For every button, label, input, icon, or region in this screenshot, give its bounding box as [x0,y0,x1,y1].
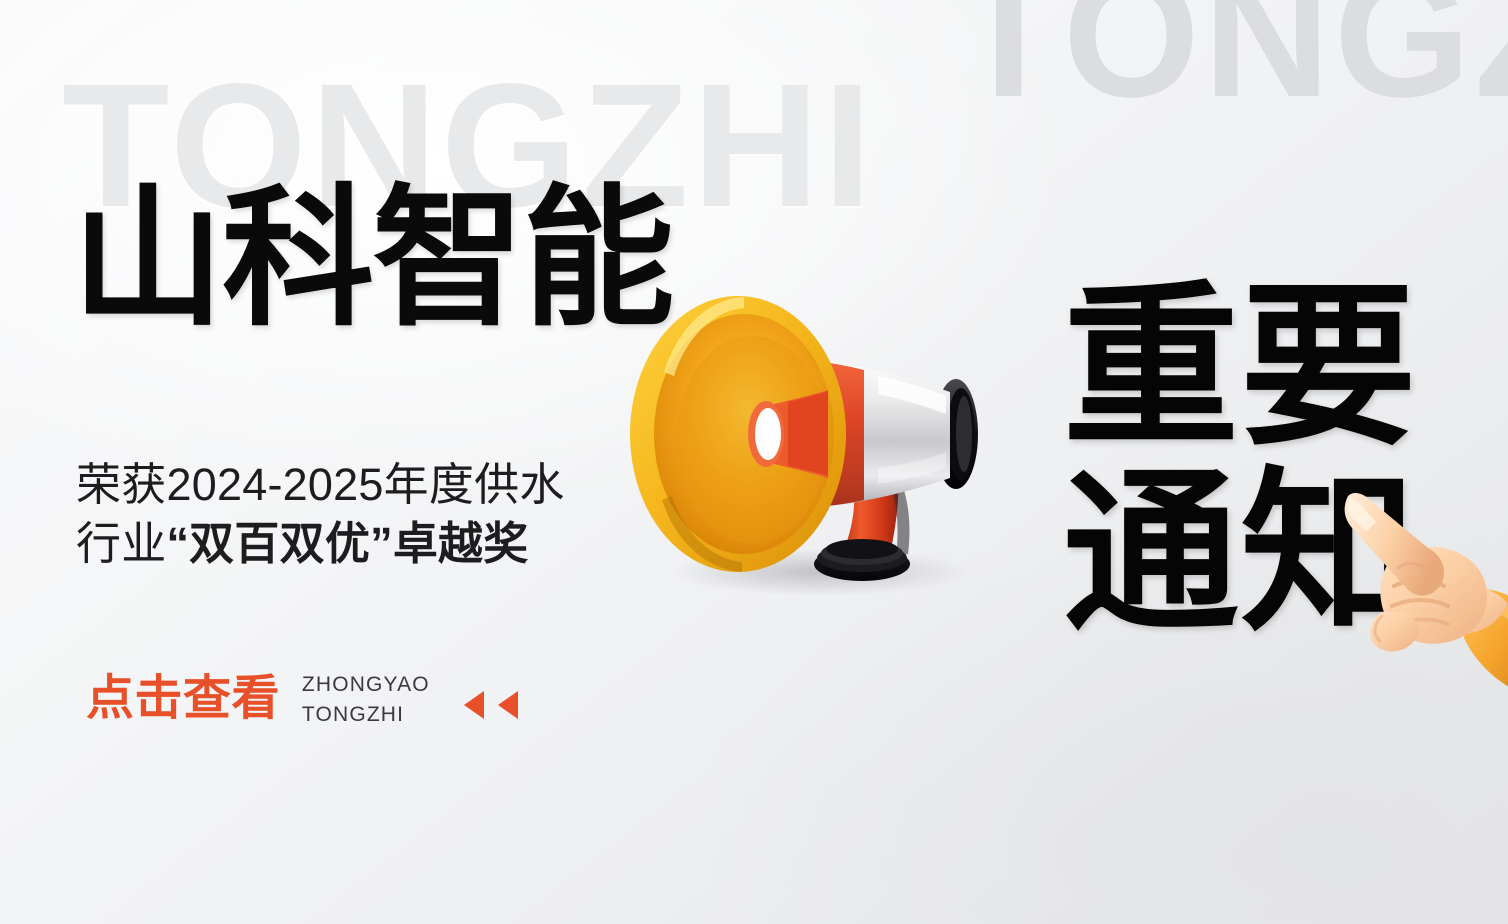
cta-pinyin: ZHONGYAO TONGZHI [302,668,430,730]
award-line-2: 行业“双百双优”卓越奖 [76,515,616,574]
arrow-left-icon [498,691,518,719]
award-line-2-prefix: 行业 [76,518,166,569]
cta-pinyin-line-2: TONGZHI [302,700,430,730]
promo-banner: TONGZHI TONGZHI 山科智能 荣获2024-2025年度供水 行业“… [0,0,1508,924]
megaphone-icon [620,272,1020,602]
award-line-2-suffix: 卓越奖 [393,518,529,569]
cta-row[interactable]: 点击查看 ZHONGYAO TONGZHI [86,668,518,730]
arrow-left-icon [464,691,484,719]
award-line-1: 荣获2024-2025年度供水 [76,456,616,515]
award-line-2-quoted: “双百双优” [166,518,392,569]
pointing-hand-icon [1336,486,1508,716]
award-subtitle: 荣获2024-2025年度供水 行业“双百双优”卓越奖 [76,456,616,573]
cta-pinyin-line-1: ZHONGYAO [302,670,430,700]
cta-label[interactable]: 点击查看 [86,675,280,723]
notice-headline-line-1: 重要 [1063,270,1418,466]
brand-title: 山科智能 [72,183,673,335]
watermark-text-secondary: TONGZHI [955,0,1508,124]
cta-arrow-group [464,679,518,719]
